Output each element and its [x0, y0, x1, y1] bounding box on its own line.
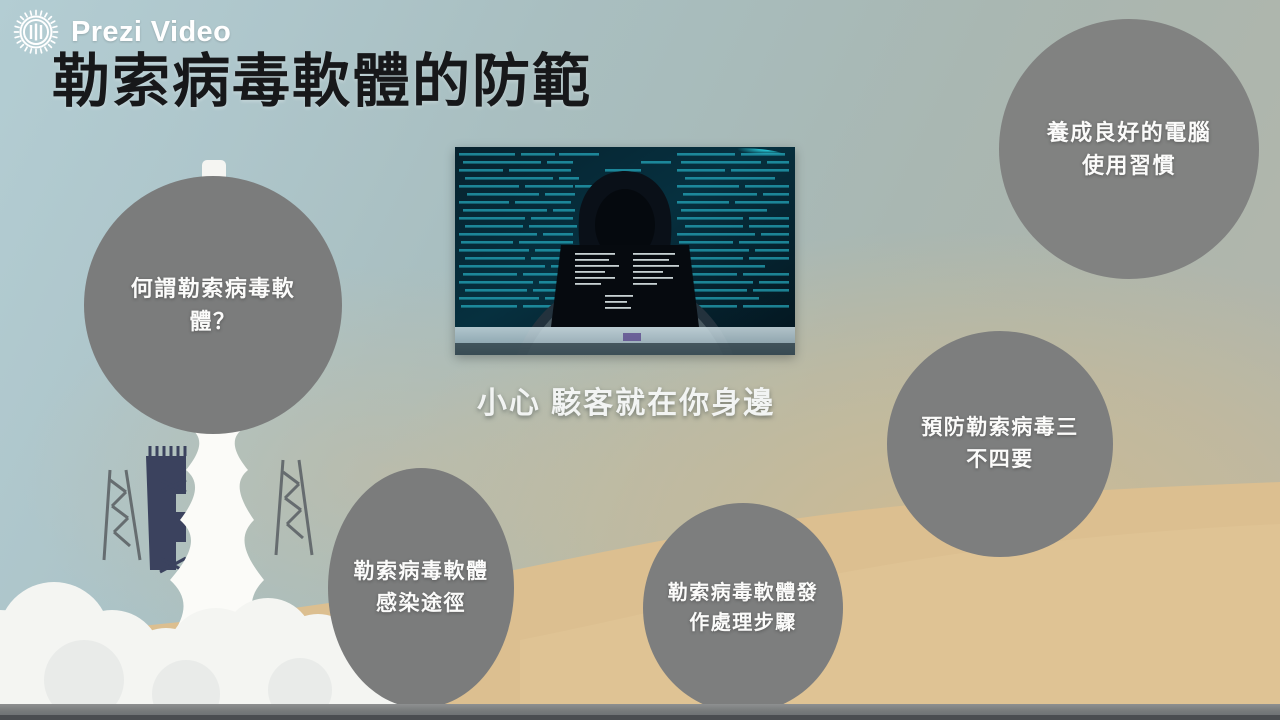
topic-bubble-infection-route[interactable]: 勒索病毒軟體感染途徑 — [328, 468, 514, 708]
topic-bubble-label: 勒索病毒軟體發作處理步驟 — [651, 578, 835, 639]
topic-bubble-what-is-ransomware[interactable]: 何謂勒索病毒軟體？ — [84, 176, 342, 434]
presentation-slide: Prezi Video 勒索病毒軟體的防範 — [0, 0, 1280, 720]
topic-bubble-label: 養成良好的電腦使用習慣 — [1031, 116, 1227, 183]
topic-bubble-label: 何謂勒索病毒軟體？ — [113, 272, 313, 339]
topic-bubble-prevention[interactable]: 預防勒索病毒三不四要 — [887, 331, 1113, 557]
brand-name: Prezi Video — [71, 16, 231, 49]
topic-bubble-response-steps[interactable]: 勒索病毒軟體發作處理步驟 — [643, 503, 843, 713]
media-caption: 小心 駭客就在你身邊 — [440, 378, 812, 422]
topic-bubble-label: 勒索病毒軟體感染途徑 — [337, 556, 505, 620]
ground-edge — [0, 715, 1280, 720]
page-title: 勒索病毒軟體的防範 — [52, 52, 592, 113]
topic-bubble-label: 預防勒索病毒三不四要 — [910, 412, 1090, 476]
topic-bubble-good-habits[interactable]: 養成良好的電腦使用習慣 — [999, 19, 1259, 279]
hacker-hooded-laptop-image — [455, 147, 795, 355]
